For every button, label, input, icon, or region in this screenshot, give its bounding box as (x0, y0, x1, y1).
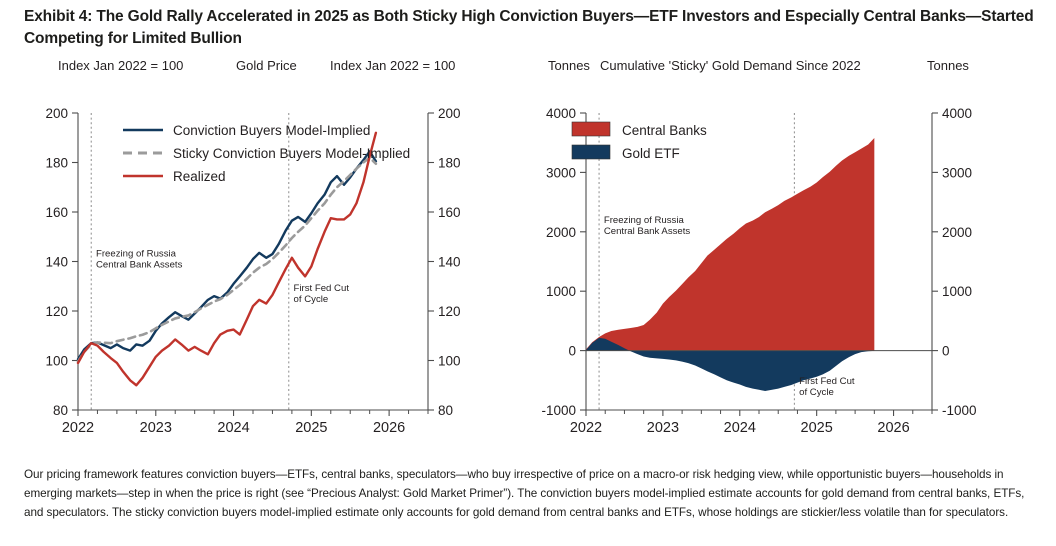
y-tick-label: -1000 (942, 403, 977, 418)
right-header-unit-left: Tonnes (548, 58, 590, 73)
chart-panel-gold-price: Index Jan 2022 = 100 Gold Price Index Ja… (18, 58, 510, 438)
y-tick-label: 140 (438, 255, 461, 270)
y-tick-label: 200 (45, 106, 68, 121)
left-header-title: Gold Price (236, 58, 297, 73)
y-tick-label: 3000 (942, 165, 972, 180)
legend-label: Realized (173, 169, 226, 184)
page-title: Exhibit 4: The Gold Rally Accelerated in… (24, 6, 1036, 50)
y-tick-label: 2000 (546, 225, 576, 240)
y-tick-label: 4000 (546, 106, 576, 121)
right-panel-header: Tonnes Cumulative 'Sticky' Gold Demand S… (520, 58, 1056, 78)
annotation-freezing-of-russia: Freezing of Russia (604, 215, 685, 226)
legend-label: Central Banks (622, 123, 707, 138)
annotation-first-fed-cut: of Cycle (294, 294, 329, 305)
y-tick-label: 0 (942, 344, 950, 359)
y-tick-label: 100 (438, 354, 461, 369)
annotation-first-fed-cut: of Cycle (799, 387, 834, 398)
exhibit-page: Exhibit 4: The Gold Rally Accelerated in… (0, 0, 1056, 546)
legend-swatch (572, 122, 610, 136)
y-tick-label: 1000 (546, 284, 576, 299)
left-panel-header: Index Jan 2022 = 100 Gold Price Index Ja… (18, 58, 510, 78)
annotation-freezing-of-russia: Central Bank Assets (604, 226, 691, 237)
x-tick-label: 2026 (877, 420, 909, 436)
legend-label: Sticky Conviction Buyers Model-Implied (173, 146, 410, 161)
x-tick-label: 2023 (647, 420, 679, 436)
y-tick-label: 120 (438, 304, 461, 319)
y-tick-label: 1000 (942, 284, 972, 299)
gold-price-chart: 8080100100120120140140160160180180200200… (18, 78, 510, 436)
y-tick-label: 2000 (942, 225, 972, 240)
charts-container: Index Jan 2022 = 100 Gold Price Index Ja… (0, 58, 1056, 438)
y-tick-label: 0 (568, 344, 576, 359)
y-tick-label: 4000 (942, 106, 972, 121)
annotation-freezing-of-russia: Freezing of Russia (96, 249, 177, 260)
chart-panel-gold-demand: Tonnes Cumulative 'Sticky' Gold Demand S… (520, 58, 1056, 438)
x-tick-label: 2024 (217, 420, 249, 436)
y-tick-label: 3000 (546, 165, 576, 180)
x-tick-label: 2026 (373, 420, 405, 436)
footnote-text: Our pricing framework features convictio… (24, 466, 1032, 523)
annotation-freezing-of-russia: Central Bank Assets (96, 260, 183, 271)
y-tick-label: 160 (438, 205, 461, 220)
y-tick-label: 200 (438, 106, 461, 121)
annotation-first-fed-cut: First Fed Cut (294, 283, 350, 294)
gold-demand-chart: -1000-1000001000100020002000300030004000… (520, 78, 1056, 436)
y-tick-label: 80 (53, 403, 68, 418)
y-tick-label: 120 (45, 304, 68, 319)
area-central-banks (586, 138, 874, 351)
y-tick-label: 100 (45, 354, 68, 369)
y-tick-label: 180 (438, 156, 461, 171)
left-header-unit-right: Index Jan 2022 = 100 (330, 58, 455, 73)
y-tick-label: 80 (438, 403, 453, 418)
legend-label: Conviction Buyers Model-Implied (173, 123, 370, 138)
legend-label: Gold ETF (622, 146, 680, 161)
x-tick-label: 2024 (724, 420, 756, 436)
x-tick-label: 2023 (140, 420, 172, 436)
y-tick-label: 160 (45, 205, 68, 220)
x-tick-label: 2022 (62, 420, 94, 436)
legend-swatch (572, 145, 610, 159)
x-tick-label: 2025 (801, 420, 833, 436)
y-tick-label: 180 (45, 156, 68, 171)
right-header-unit-right: Tonnes (927, 58, 969, 73)
left-header-unit-left: Index Jan 2022 = 100 (58, 58, 183, 73)
y-tick-label: 140 (45, 255, 68, 270)
y-tick-label: -1000 (541, 403, 576, 418)
x-tick-label: 2022 (570, 420, 602, 436)
x-tick-label: 2025 (295, 420, 327, 436)
annotation-first-fed-cut: First Fed Cut (799, 376, 855, 387)
right-header-title: Cumulative 'Sticky' Gold Demand Since 20… (600, 58, 861, 73)
